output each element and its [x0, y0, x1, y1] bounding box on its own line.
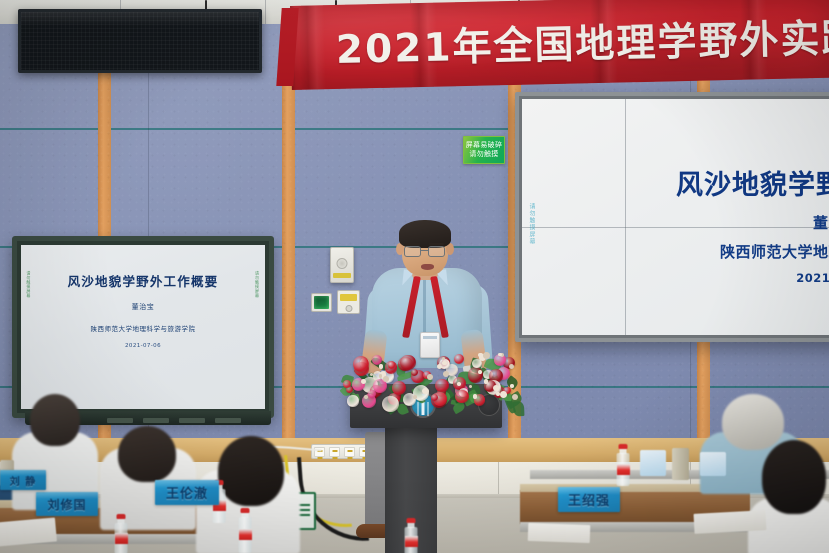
document-paper	[694, 510, 767, 534]
tissue-box	[640, 450, 666, 476]
flower-bud	[442, 361, 447, 366]
flower-blossom	[392, 381, 406, 395]
flower-bud	[496, 392, 500, 396]
name-placard: 刘修国	[36, 492, 98, 516]
name-placard: 王伦澈	[155, 480, 219, 505]
control-panel	[337, 290, 360, 314]
water-bottle	[238, 508, 252, 553]
water-bottle	[114, 514, 128, 553]
attendee-left-third-head	[218, 436, 284, 506]
flower-bud	[510, 384, 514, 388]
main-projection-screen: 请勿触摸屏幕 风沙地貌学野 董治 陕西师范大学地理 2021-0	[515, 92, 829, 342]
flower-blossom	[400, 355, 415, 370]
flower-blossom	[431, 394, 438, 401]
water-bottle	[404, 518, 418, 553]
conference-photo: 2021年全国地理学野外实践 请勿触摸屏幕 风沙地貌学野 董治 陕西师范大学地理…	[0, 0, 829, 553]
flower-blossom	[388, 361, 395, 368]
emergency-speaker-icon	[330, 247, 354, 283]
flower-bud	[443, 371, 449, 377]
flower-blossom	[382, 396, 399, 413]
flower-bud	[509, 364, 514, 369]
floral-arrangement	[338, 352, 518, 404]
name-placard: 刘 静	[0, 470, 46, 490]
glasses-icon	[404, 246, 421, 257]
flower-blossom	[454, 354, 464, 364]
attendee-right-gray-head	[722, 394, 784, 450]
slide-organization: 陕西师范大学地理	[676, 241, 829, 262]
flower-bud	[422, 388, 428, 394]
flower-bud	[383, 376, 389, 382]
status-display-panel	[311, 293, 332, 312]
slide-date: 2021-0	[676, 271, 829, 285]
speaker-mouth	[421, 264, 434, 270]
flower-bud	[437, 364, 442, 369]
glasses-bridge	[421, 250, 428, 251]
warning-line-1: 屏幕易破碎	[466, 141, 503, 150]
water-bottle	[616, 444, 630, 486]
flower-bud	[427, 374, 433, 380]
drinking-cup	[672, 448, 689, 480]
glasses-icon	[428, 246, 445, 257]
flower-bud	[379, 364, 384, 369]
name-placard-label: 刘修国	[47, 496, 86, 513]
speaker-eyebrow-left	[405, 243, 420, 245]
flower-blossom	[455, 390, 469, 404]
screen-warning-sign: 屏幕易破碎 请勿触摸	[463, 136, 505, 164]
board-slide-organization: 陕西师范大学地理科学与旅游学院	[21, 323, 265, 333]
document-paper	[528, 523, 591, 543]
name-placard: 王绍强	[558, 487, 620, 512]
attendee-left-front-head	[30, 394, 80, 446]
name-placard-label: 王伦澈	[166, 483, 208, 502]
wall-led-display	[18, 9, 262, 73]
slide-author: 董治	[676, 212, 829, 233]
name-placard-label: 刘 静	[10, 473, 36, 488]
flower-bud	[483, 352, 490, 359]
speaker-leg	[365, 432, 387, 528]
attendee-right-front-head	[762, 440, 826, 514]
board-slide-title: 风沙地貌学野外工作概要	[21, 271, 265, 290]
flower-bud	[413, 395, 417, 399]
attendee-left-second-head	[118, 426, 176, 482]
name-placard-label: 王绍强	[568, 490, 610, 509]
screen-side-notice: 请勿触摸屏幕	[526, 203, 535, 245]
flower-bud	[469, 385, 472, 388]
tissue-box	[700, 452, 726, 476]
warning-line-2: 请勿触摸	[469, 150, 498, 159]
board-slide-author: 董治宝	[21, 302, 265, 312]
speaker-eyebrow-right	[429, 243, 444, 245]
event-banner: 2021年全国地理学野外实践	[290, 0, 829, 90]
flower-blossom	[435, 379, 448, 392]
flower-bud	[500, 391, 507, 398]
flower-blossom	[347, 395, 358, 406]
secondary-display-screen: 请勿触摸屏幕 请勿触摸屏幕 风沙地貌学野外工作概要 董治宝 陕西师范大学地理科学…	[12, 236, 274, 418]
slide-title: 风沙地貌学野	[676, 163, 829, 202]
flower-bud	[478, 353, 483, 358]
banner-title: 2021年全国地理学野外实践	[335, 7, 829, 75]
flower-bud	[493, 385, 499, 391]
board-slide-date: 2021-07-06	[21, 343, 265, 349]
flower-bud	[379, 374, 382, 377]
